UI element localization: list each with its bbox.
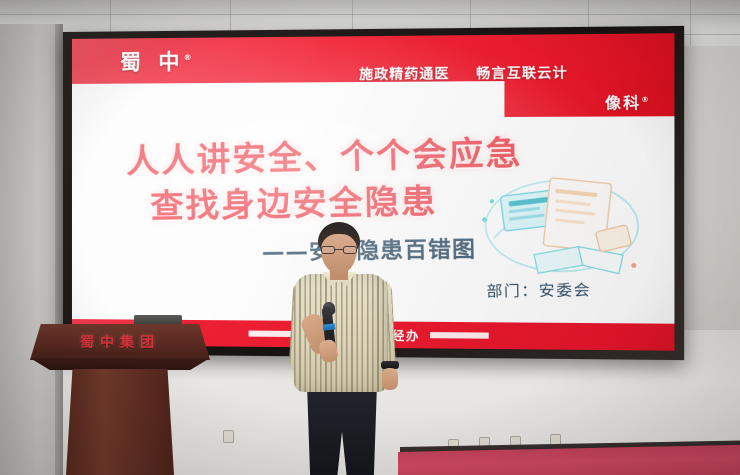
lectern-lip <box>30 358 210 370</box>
eyeglasses-icon <box>321 246 357 254</box>
registered-mark-icon: ® <box>184 53 193 62</box>
documents-illustration-icon <box>473 166 651 282</box>
trousers <box>304 385 380 475</box>
slide-title-line2: 查找身边安全隐患 <box>150 174 438 228</box>
speaker-person <box>282 222 400 475</box>
lectern-body <box>66 369 174 475</box>
footer-rule-right <box>430 332 489 339</box>
logo-char-1: 蜀 <box>120 46 142 76</box>
wall-outlet <box>224 431 233 442</box>
logo-char-2: 中 <box>158 46 180 76</box>
lectern[interactable]: 蜀中集团 <box>30 324 210 475</box>
company-logo: 蜀 中 ® <box>120 46 206 77</box>
registered-mark-icon: ® <box>641 96 651 104</box>
corner-brand-text: 像科® <box>605 91 651 113</box>
right-hand <box>382 368 398 390</box>
slide-header-band: 蜀 中 ® 施政精药通医 畅言互联云计 <box>72 33 674 84</box>
lectern-label: 蜀中集团 <box>30 332 210 352</box>
microphone-band <box>323 323 336 330</box>
face <box>321 234 357 274</box>
presentation-photo-scene: 蜀 中 ® 施政精药通医 畅言互联云计 像科® <box>0 0 740 475</box>
slide-department: 部门：安委会 <box>486 279 591 302</box>
slide-title-line1: 人人讲安全、个个会应急 <box>126 125 523 182</box>
slogan-left: 施政精药通医 <box>359 66 449 83</box>
